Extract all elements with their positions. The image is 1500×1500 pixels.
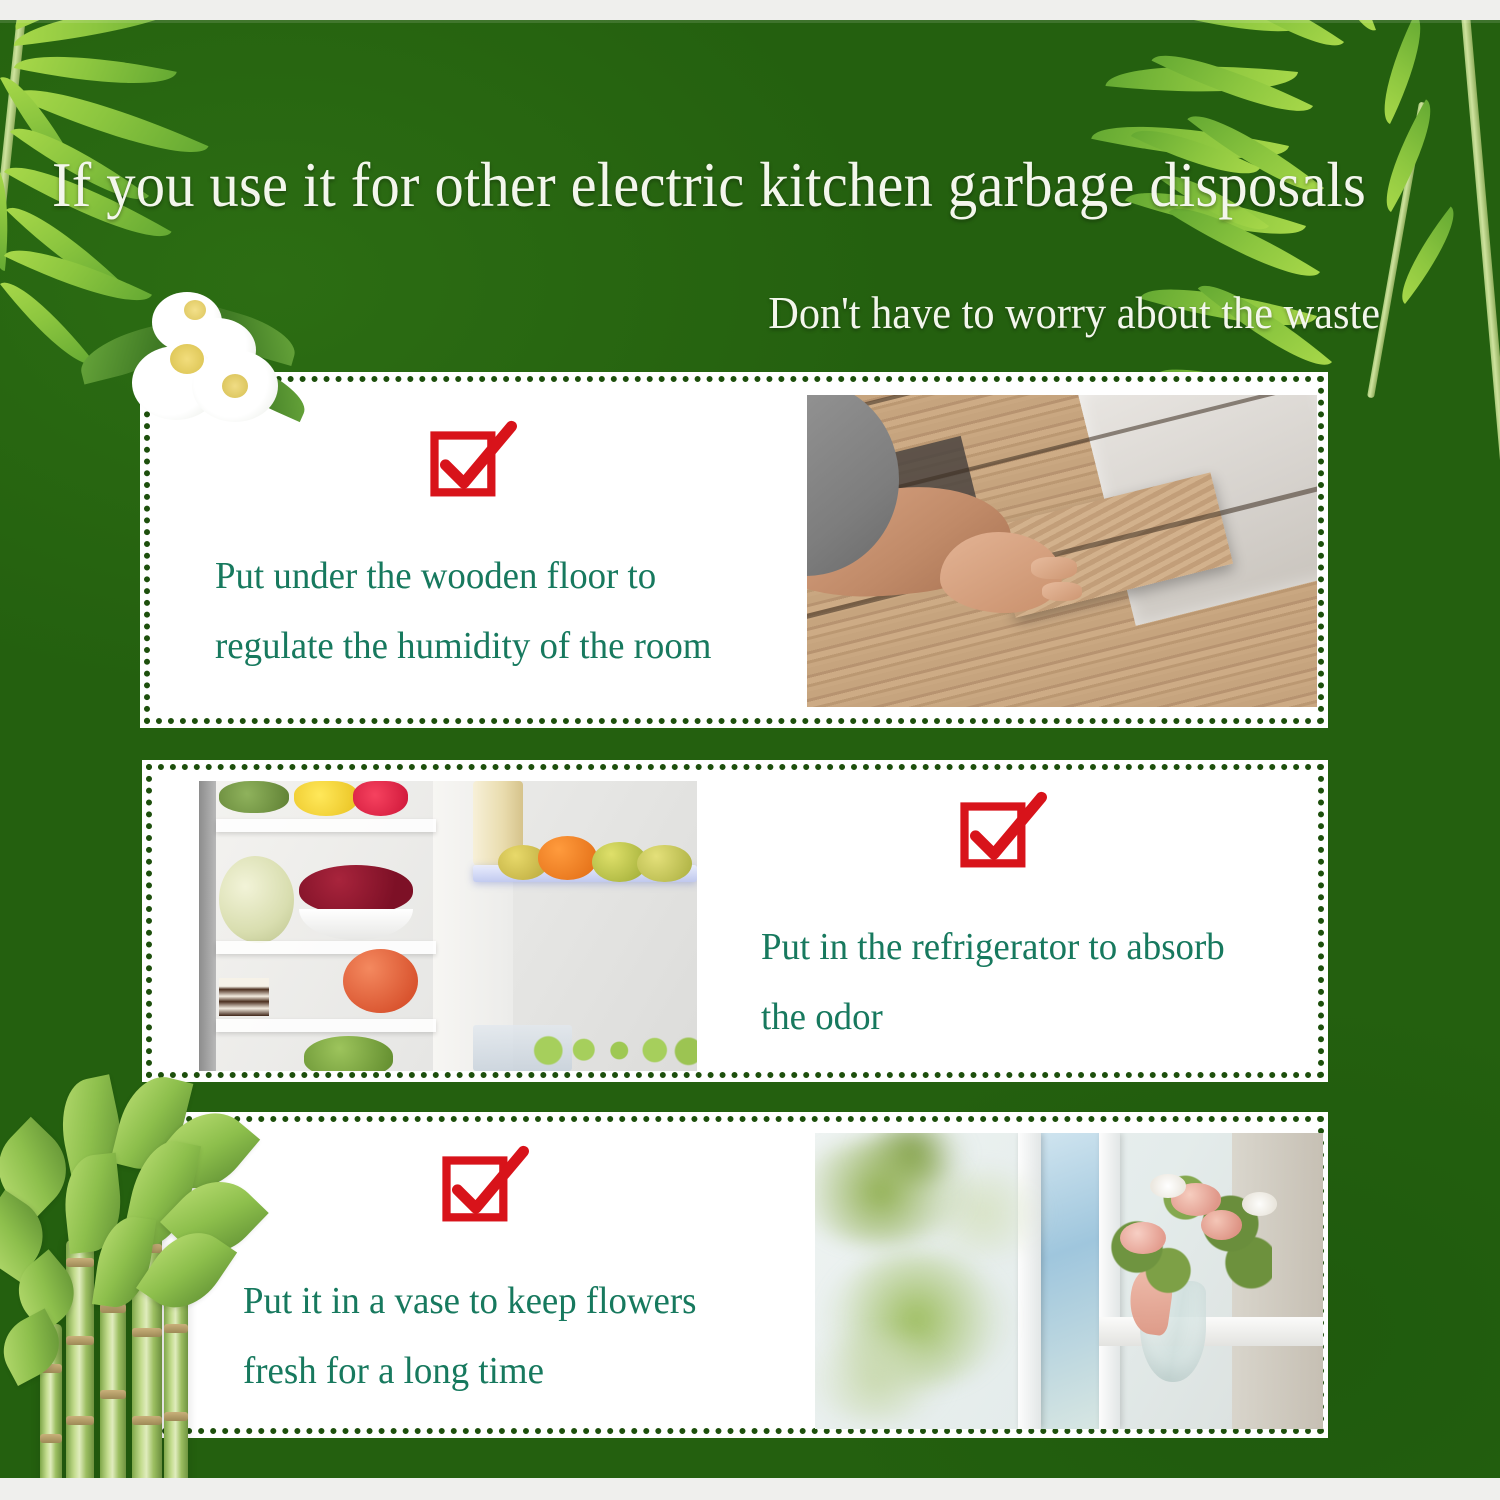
green-panel: If you use it for other electric kitchen… [0, 20, 1500, 1478]
red-checkbox-checked-icon [427, 419, 519, 507]
card1-caption-line1: Put under the wooden floor to [215, 541, 762, 611]
card2-caption-line1: Put in the refrigerator to absorb [761, 912, 1304, 982]
card2-caption-line2: the odor [761, 982, 1304, 1052]
wooden-floor-installation-photo [807, 395, 1317, 707]
red-checkbox-checked-icon [957, 790, 1049, 878]
jasmine-flower-decoration [74, 288, 324, 438]
red-checkbox-checked-icon [439, 1144, 531, 1232]
open-refrigerator-interior-photo [199, 781, 697, 1071]
infographic-canvas: If you use it for other electric kitchen… [0, 0, 1500, 1500]
card2-text-column: Put in the refrigerator to absorb the od… [761, 767, 1321, 1075]
flower-vase-on-windowsill-photo [815, 1133, 1323, 1429]
page-title: If you use it for other electric kitchen… [52, 152, 1363, 218]
card1-caption-line2: regulate the humidity of the room [215, 611, 762, 681]
bamboo-stalks-bottom-left [14, 1062, 314, 1478]
card3-caption-line1: Put it in a vase to keep flowers [243, 1266, 796, 1336]
card1-text-column: Put under the wooden floor to regulate t… [147, 419, 779, 682]
benefit-card-refrigerator[interactable]: Put in the refrigerator to absorb the od… [142, 760, 1328, 1082]
card3-caption-line2: fresh for a long time [243, 1336, 796, 1406]
benefit-card-flower-vase[interactable]: Put it in a vase to keep flowers fresh f… [146, 1112, 1328, 1438]
